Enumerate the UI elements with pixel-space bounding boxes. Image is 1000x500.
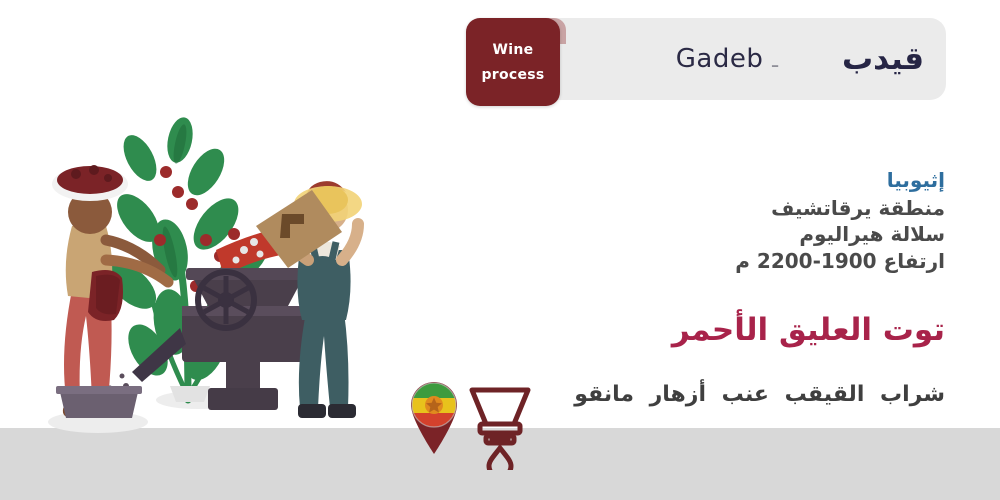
coffee-name-latin-text: Gadeb (676, 44, 764, 74)
region-label: منطقة يرقاتشيف (525, 195, 945, 221)
name-dash: ـ (772, 48, 778, 72)
ethiopia-flag-map-pin-icon (405, 376, 463, 454)
coffee-name-latin: Gadeb ـ (676, 44, 782, 74)
name-pill-labels: Gadeb ـ قيدب (528, 18, 946, 100)
coffee-origin-card: Gadeb ـ قيدب Wine process إثيوبيا منطقة … (0, 0, 1000, 500)
pour-over-dripper-icon (462, 374, 538, 470)
header: Gadeb ـ قيدب Wine process (466, 18, 946, 100)
country-label: إثيوبيا (525, 168, 945, 193)
process-badge-line2: process (481, 67, 544, 83)
tasting-notes: شراب القيقب عنب أزهار مانقو (525, 382, 945, 407)
flavor-headline: توت العليق الأحمر (525, 312, 945, 348)
icon-row (400, 372, 550, 472)
origin-info-block: إثيوبيا منطقة يرقاتشيف سلالة هيراليوم ار… (525, 168, 945, 274)
coffee-name-arabic: قيدب (842, 41, 924, 77)
process-badge-line1: Wine (493, 42, 534, 58)
coffee-harvest-and-processing-illustration (20, 100, 420, 440)
variety-label: سلالة هيراليوم (525, 221, 945, 247)
process-badge: Wine process (466, 18, 560, 106)
altitude-label: ارتفاع 1900-2200 م (525, 248, 945, 274)
